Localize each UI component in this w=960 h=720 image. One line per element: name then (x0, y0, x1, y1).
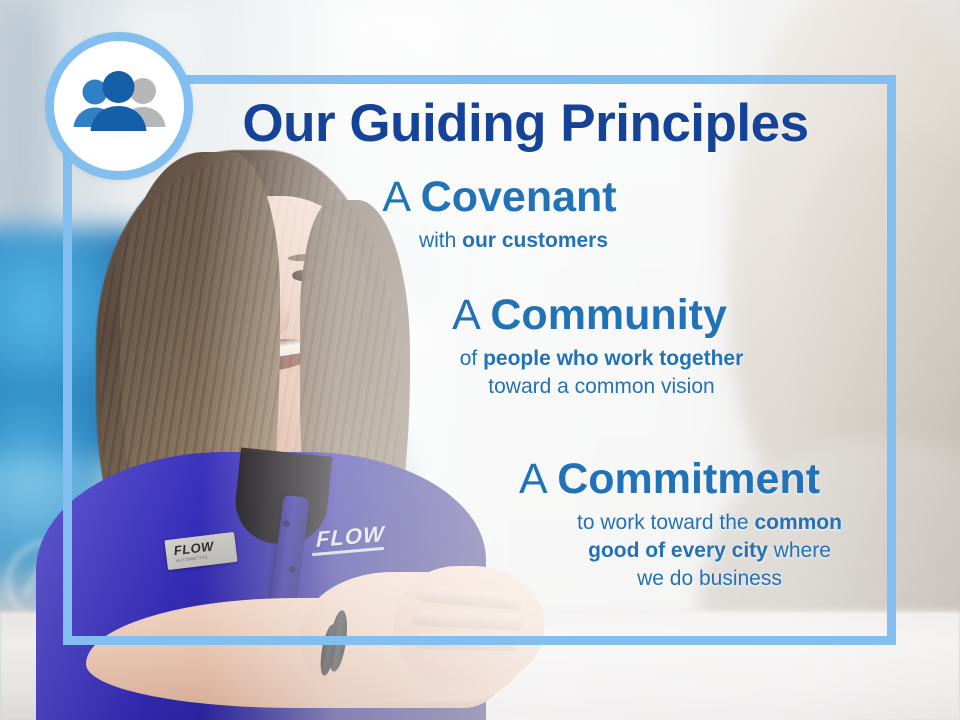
principle-title: A Covenant (83, 175, 916, 221)
page-title: Our Guiding Principles (63, 97, 896, 150)
subtext-bold: people who work together (483, 347, 743, 370)
principle-subtext: of people who work together toward a com… (173, 345, 960, 402)
principle-commitment: A Commitment to work toward the common g… (63, 457, 960, 594)
principle-subtext: to work toward the common good of every … (253, 509, 960, 594)
principle-title: A Commitment (253, 457, 960, 503)
subtext-bold: good of every city (588, 539, 768, 562)
principle-lead: A (519, 455, 557, 503)
subtext-plain: to work toward the (577, 511, 754, 534)
subtext-bold: our customers (462, 229, 608, 252)
principle-title: A Community (173, 293, 960, 339)
principle-keyword: Commitment (557, 455, 820, 503)
principle-lead: A (382, 173, 420, 221)
text-content: Our Guiding Principles A Covenant with o… (63, 75, 896, 645)
subtext-plain: where (768, 539, 831, 562)
subtext-bold: common (754, 511, 842, 534)
subtext-plain: toward a common vision (488, 375, 714, 398)
principle-keyword: Covenant (421, 173, 617, 221)
subtext-plain: we do business (637, 567, 782, 590)
principle-covenant: A Covenant with our customers (63, 175, 916, 255)
subtext-plain: of (460, 347, 483, 370)
principle-lead: A (452, 291, 490, 339)
principle-subtext: with our customers (83, 227, 916, 255)
subtext-plain: with (419, 229, 462, 252)
guiding-principles-graphic: FLOW FLOW AUTOMOTIVE (0, 0, 960, 720)
principle-community: A Community of people who work together … (63, 293, 960, 401)
principle-keyword: Community (490, 291, 727, 339)
